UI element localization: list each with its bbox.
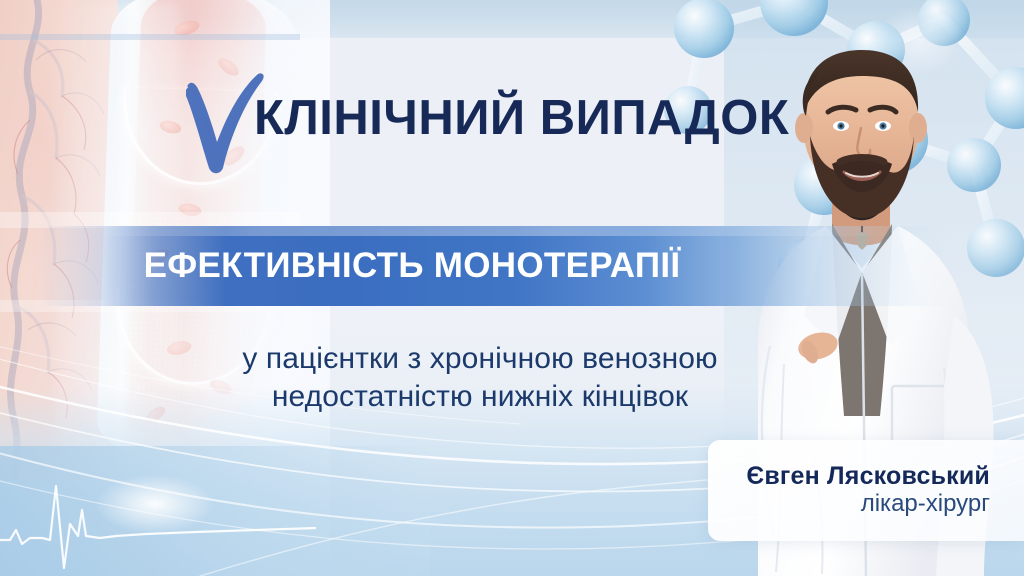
background-light-flare (95, 474, 215, 534)
slide-canvas: КЛІНІЧНИЙ ВИПАДОК ЕФЕКТИВНІСТЬ МОНОТЕРАП… (0, 0, 1024, 576)
subtitle-line-1: у пацієнтки з хронічною венозною (0, 340, 960, 378)
subtitle-line-2: недостатністю нижніх кінцівок (0, 378, 960, 416)
speaker-name: Євген Лясковський (746, 462, 990, 491)
subtitle-block: у пацієнтки з хронічною венозною недоста… (0, 340, 960, 416)
nameplate-content: Євген Лясковський лікар-хірург (708, 440, 1004, 541)
ribbon-headline: ЕФЕКТИВНІСТЬ МОНОТЕРАПІЇ (0, 226, 1024, 306)
speaker-role: лікар-хірург (861, 490, 990, 519)
page-title: КЛІНІЧНИЙ ВИПАДОК (254, 94, 789, 143)
speaker-nameplate: Євген Лясковський лікар-хірург (708, 440, 1024, 541)
